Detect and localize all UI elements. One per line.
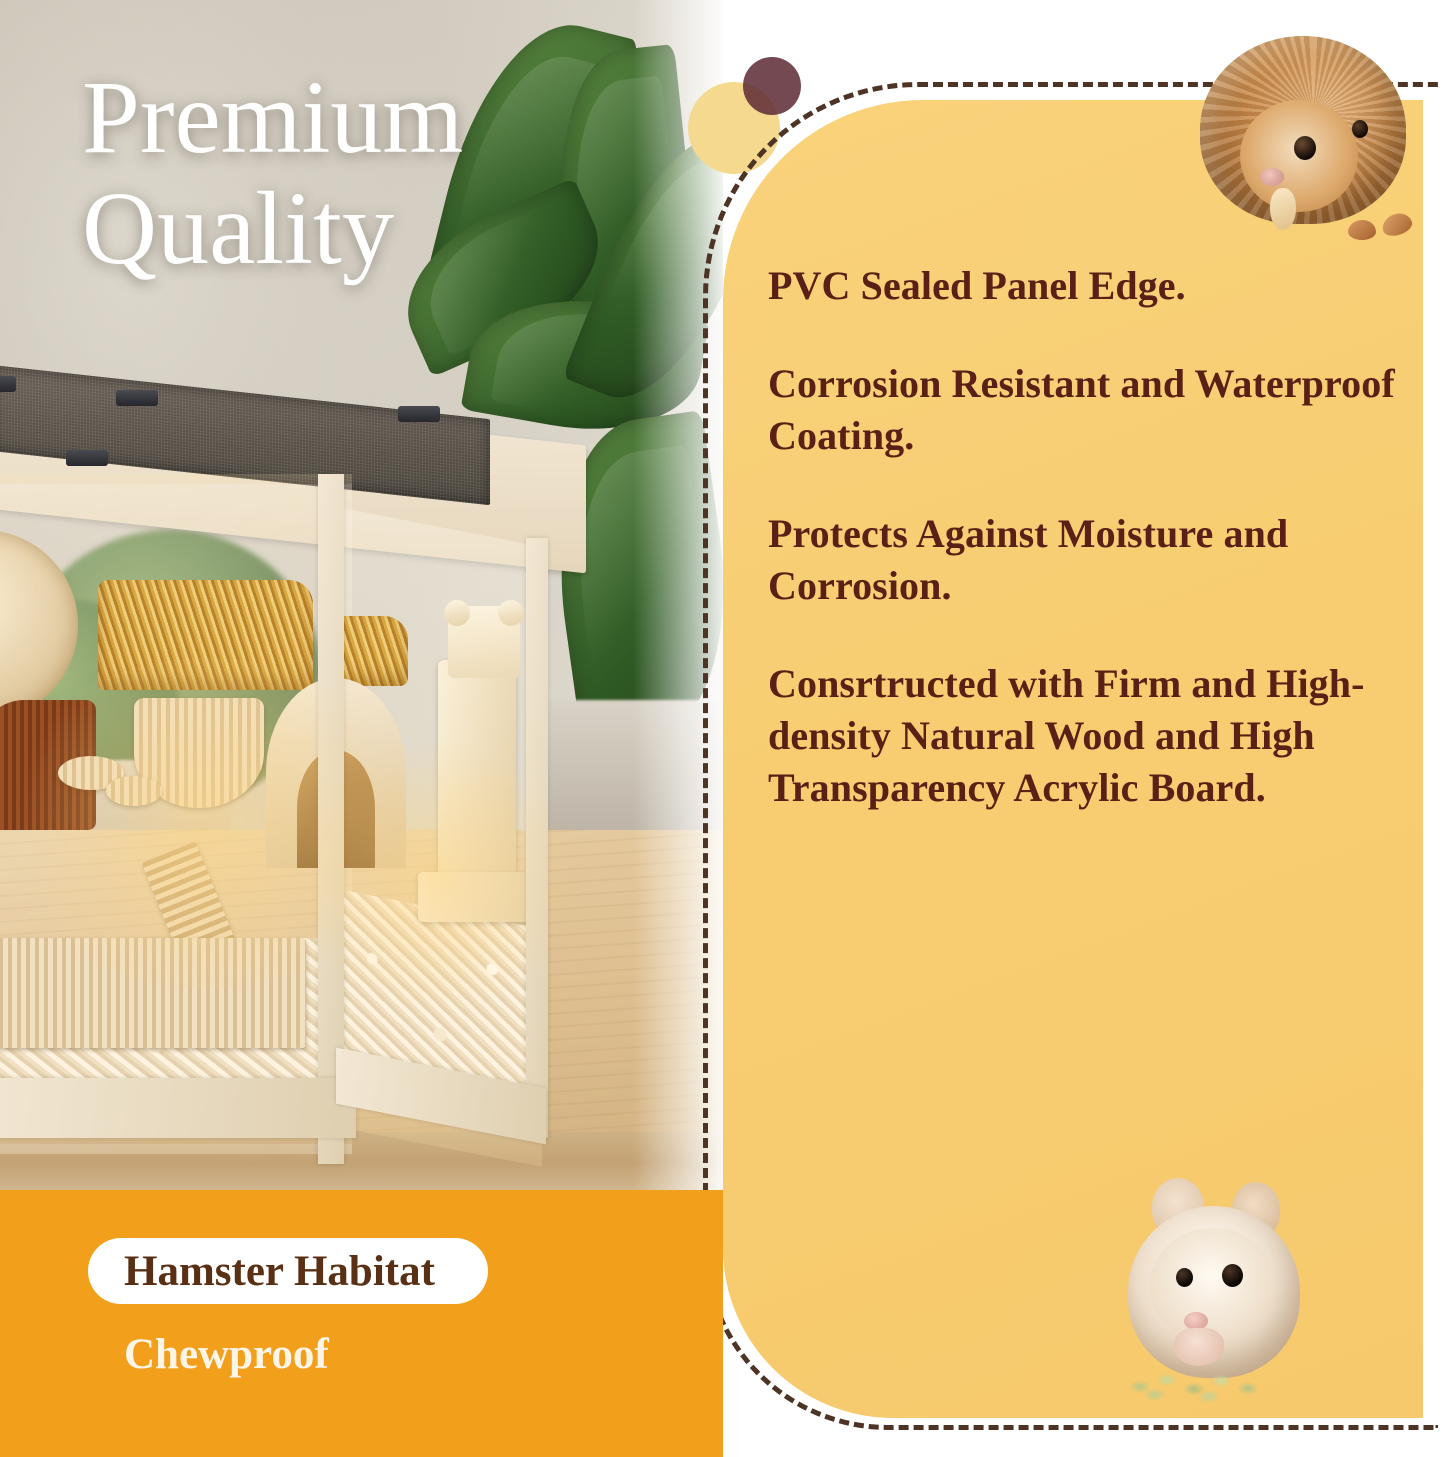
feature-item: PVC Sealed Panel Edge. (768, 260, 1403, 312)
product-infographic: Premium Quality PVC Sealed Panel Edge. C… (0, 0, 1445, 1457)
hamster-bottom-image (1128, 1172, 1358, 1410)
features-list: PVC Sealed Panel Edge. Corrosion Resista… (768, 260, 1403, 814)
hamster-top-eye-left (1294, 136, 1316, 160)
banner-subtitle: Chewproof (124, 1330, 644, 1380)
cage-bottom-rail (0, 1078, 356, 1138)
cage-water-bottle-stand (438, 660, 516, 882)
cage-bear-ear-right (498, 600, 524, 626)
decor-circle-maroon-icon (743, 57, 801, 115)
cage-hinge-3 (66, 450, 108, 466)
feature-item: Consrtructed with Firm and High-density … (768, 658, 1403, 814)
hamster-bottom-face (1150, 1228, 1276, 1344)
cage-bottom-fence (0, 938, 306, 1048)
hamster-bottom-paws (1174, 1328, 1224, 1366)
title-line-1: Premium (82, 62, 682, 173)
hamster-top-image (1196, 28, 1412, 240)
hamster-top-eye-right (1352, 120, 1368, 138)
cage-hinge-4 (398, 406, 440, 422)
hamster-bottom-eye-left (1176, 1268, 1193, 1287)
cage-hinge-2 (116, 390, 158, 406)
hamster-top-nose (1260, 168, 1284, 186)
cage-hay-pile (98, 580, 313, 690)
hamster-top-snack (1270, 188, 1296, 230)
cage-bottle-base (418, 872, 536, 922)
border-right-mask (1438, 82, 1445, 1430)
hamster-top-seed-1 (1348, 220, 1376, 240)
cage-wood-steps-2 (106, 776, 162, 806)
hamster-bottom-eye-right (1222, 1264, 1243, 1287)
feature-item: Corrosion Resistant and Waterproof Coati… (768, 358, 1403, 462)
hamster-top-seed-2 (1379, 210, 1414, 239)
cage-corner-post-right (526, 538, 548, 1138)
cage-hinge-1 (0, 376, 16, 392)
hamster-cage (0, 378, 606, 1178)
title-line-2: Quality (82, 173, 682, 284)
feature-item: Protects Against Moisture and Corrosion. (768, 508, 1403, 612)
page-title: Premium Quality (82, 62, 682, 285)
banner-pill-label: Hamster Habitat (124, 1247, 644, 1297)
bottom-banner (0, 1190, 723, 1457)
cage-bear-ear-left (444, 600, 470, 626)
hamster-bottom-seed-pile (1122, 1368, 1272, 1402)
